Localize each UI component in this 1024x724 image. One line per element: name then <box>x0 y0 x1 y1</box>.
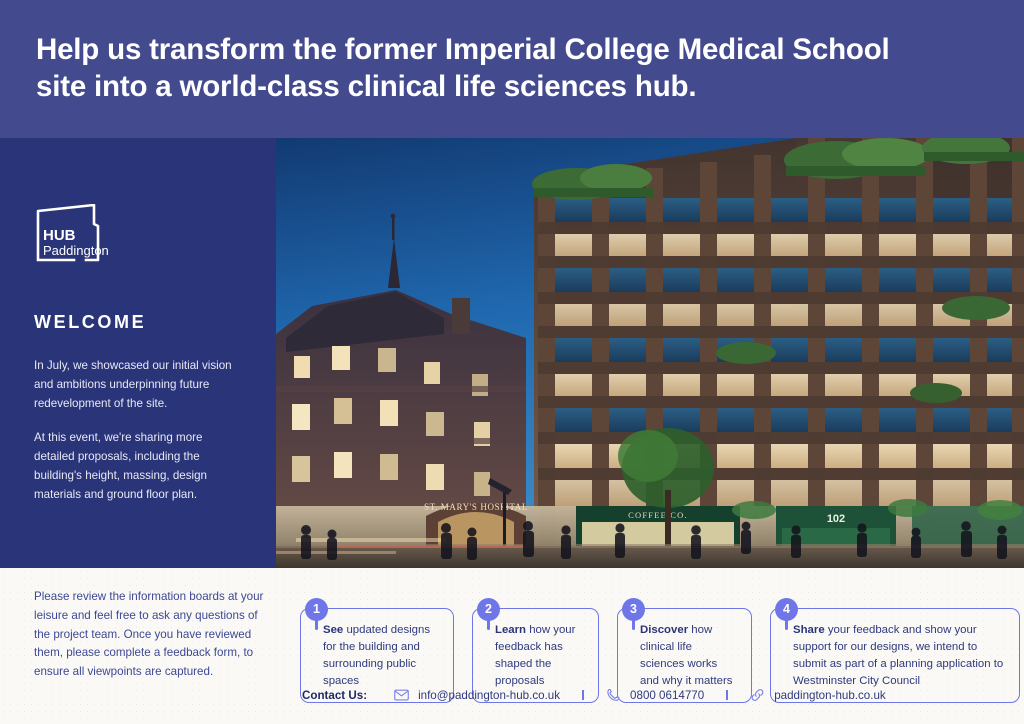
step-card-2-text: Learn how your feedback has shaped the p… <box>495 622 584 690</box>
footer: Please review the information boards at … <box>0 568 1024 724</box>
header-banner: Help us transform the former Imperial Co… <box>0 0 1024 138</box>
link-icon <box>750 688 765 702</box>
step-card-2-wrapper: 2 Learn how your feedback has shaped the… <box>472 598 599 703</box>
step-number-3: 3 <box>622 598 645 621</box>
step-badge-2: 2 <box>477 598 500 621</box>
sidebar-paragraph-2: At this event, we're sharing more detail… <box>34 429 242 504</box>
welcome-board: Help us transform the former Imperial Co… <box>0 0 1024 724</box>
hub-paddington-logo: HUB Paddington <box>34 204 110 262</box>
step-card-4-lead: Share <box>793 624 825 636</box>
footer-note: Please review the information boards at … <box>34 588 274 682</box>
architectural-rendering-illustration: ST. MARY'S HOSPITAL COFFEE CO. 102 <box>276 138 1024 568</box>
sidebar: HUB Paddington WELCOME In July, we showc… <box>0 138 276 568</box>
logo-paddington-text: Paddington <box>43 243 109 258</box>
step-card-2-lead: Learn <box>495 624 526 636</box>
step-card-1-lead: See <box>323 624 343 636</box>
phone-icon <box>606 688 621 702</box>
steps-card-list: 1 See updated designs for the building a… <box>300 598 1020 703</box>
logo-hub-text: HUB <box>43 227 76 244</box>
step-card-3-text: Discover how clinical life sciences work… <box>640 622 737 690</box>
contact-phone-text: 0800 0614770 <box>630 689 704 702</box>
step-card-4-wrapper: 4 Share your feedback and show your supp… <box>770 598 1020 703</box>
contact-bar: Contact Us: info@paddington-hub.co.uk <box>302 688 886 702</box>
contact-website[interactable]: paddington-hub.co.uk <box>750 688 886 702</box>
step-card-4-text: Share your feedback and show your suppor… <box>793 622 1005 690</box>
hero-rendering: ST. MARY'S HOSPITAL COFFEE CO. 102 <box>276 138 1024 568</box>
sign-coffee-co: COFFEE CO. <box>628 510 688 520</box>
contact-separator <box>726 690 728 700</box>
sign-unit-102: 102 <box>827 513 845 525</box>
sign-st-marys-hospital: ST. MARY'S HOSPITAL <box>424 502 528 512</box>
envelope-icon <box>394 688 409 702</box>
step-card-1-text: See updated designs for the building and… <box>323 622 439 690</box>
step-card-3-wrapper: 3 Discover how clinical life sciences wo… <box>617 598 752 703</box>
contact-email[interactable]: info@paddington-hub.co.uk <box>394 688 560 702</box>
contact-phone[interactable]: 0800 0614770 <box>606 688 704 702</box>
step-number-4: 4 <box>775 598 798 621</box>
contact-label: Contact Us: <box>302 689 367 702</box>
step-card-4-rest: your feedback and show your support for … <box>793 624 1003 687</box>
contact-website-text: paddington-hub.co.uk <box>774 689 886 702</box>
sidebar-paragraph-1: In July, we showcased our initial vision… <box>34 357 242 413</box>
contact-email-text: info@paddington-hub.co.uk <box>418 689 560 702</box>
welcome-heading: WELCOME <box>34 312 242 333</box>
step-card-3-lead: Discover <box>640 624 688 636</box>
coffee-shopfront: COFFEE CO. <box>576 506 740 550</box>
step-number-2: 2 <box>477 598 500 621</box>
page-title: Help us transform the former Imperial Co… <box>0 32 960 106</box>
step-badge-4: 4 <box>775 598 798 621</box>
contact-separator <box>582 690 584 700</box>
step-card-1-wrapper: 1 See updated designs for the building a… <box>300 598 454 703</box>
step-badge-3: 3 <box>622 598 645 621</box>
step-number-1: 1 <box>305 598 328 621</box>
step-badge-1: 1 <box>305 598 328 621</box>
